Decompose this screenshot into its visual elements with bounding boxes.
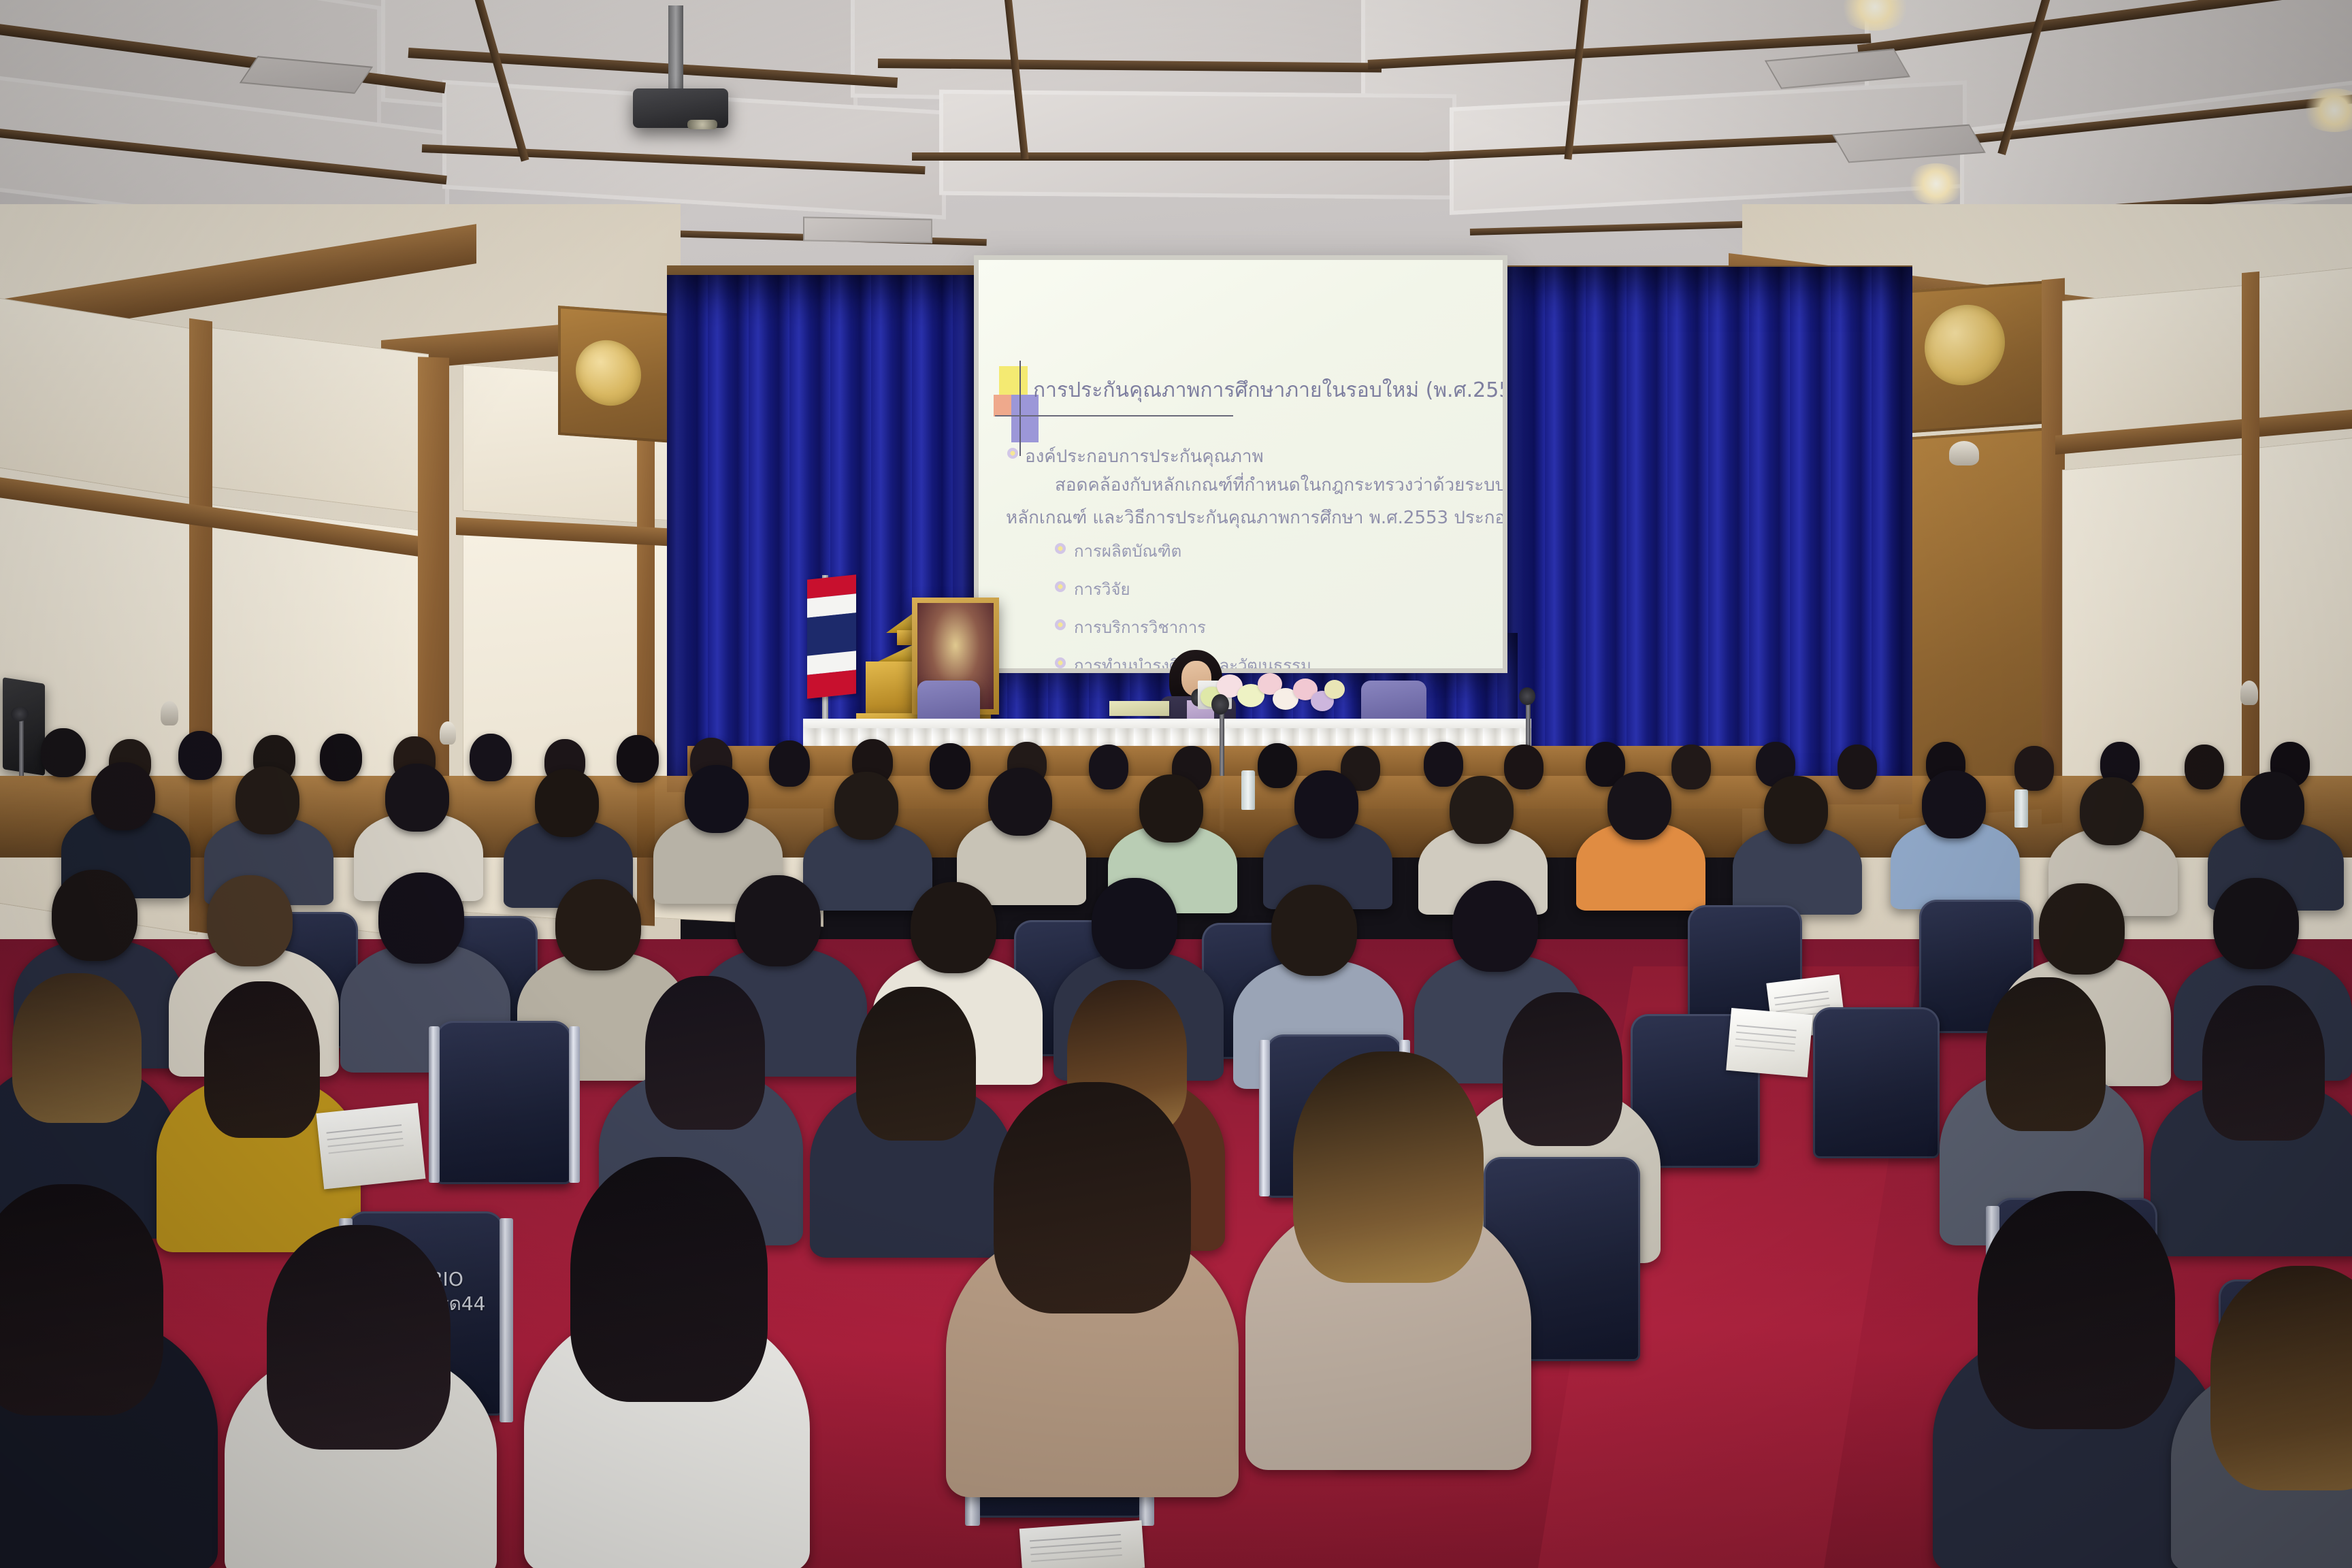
audience-hair — [1978, 1191, 2175, 1429]
slide-deco-yellow — [999, 366, 1028, 397]
chair[interactable] — [1813, 1007, 1940, 1158]
wall-post — [2242, 272, 2259, 817]
slide-divider — [995, 415, 1233, 416]
slide-bullet-icon — [1007, 448, 1018, 459]
slide-body-line-2: หลักเกณฑ์ และวิธีการประกันคุณภาพการศึกษา… — [1006, 504, 1503, 532]
audience-head — [911, 882, 996, 973]
audience-head — [834, 772, 898, 840]
projection-screen: การประกันคุณภาพการศึกษาภายในรอบใหม่ (พ.ศ… — [979, 260, 1503, 668]
audience-head — [2185, 745, 2224, 789]
wall-panel — [204, 327, 429, 514]
audience-hair — [1986, 977, 2106, 1131]
slide-bullet-2: การวิจัย — [1074, 576, 1130, 602]
wall-sconce — [440, 721, 456, 745]
projector-lens — [687, 120, 717, 129]
audience-head — [2240, 772, 2304, 840]
audience-head — [685, 765, 749, 833]
audience-head — [1764, 776, 1828, 844]
slide-bullet-icon — [1055, 581, 1066, 592]
presentation-slide: การประกันคุณภาพการศึกษาภายในรอบใหม่ (พ.ศ… — [979, 260, 1503, 668]
audience-head — [1922, 770, 1986, 838]
audience-head — [470, 734, 512, 781]
audience-hair — [645, 976, 765, 1130]
audience-head — [555, 879, 641, 970]
slide-title: การประกันคุณภาพการศึกษาภายในรอบใหม่ (พ.ศ… — [1033, 374, 1503, 406]
audience-head — [2014, 746, 2054, 791]
slide-heading: องค์ประกอบการประกันคุณภาพ — [1025, 442, 1264, 470]
slide-body-line-1: สอดคล้องกับหลักเกณฑ์ที่กำหนดในกฎกระทรวงว… — [1055, 471, 1503, 499]
wall-panel — [2062, 284, 2253, 444]
audience-head — [1092, 878, 1177, 969]
slide-bullet-3: การบริการวิชาการ — [1074, 614, 1206, 640]
audience-head — [988, 768, 1052, 836]
wall-sconce — [2240, 681, 2258, 705]
chair-frame — [1259, 1040, 1270, 1196]
audience-hair — [2202, 985, 2325, 1141]
wall-post — [2042, 278, 2065, 825]
audience-head — [2039, 883, 2125, 975]
audience-hair — [856, 987, 976, 1141]
audience-head — [1258, 743, 1297, 788]
audience-head — [1837, 745, 1877, 789]
water-bottle — [2014, 789, 2028, 828]
audience-head — [2213, 878, 2299, 969]
chair[interactable] — [436, 1021, 572, 1184]
wall-panel — [0, 297, 197, 500]
audience-head — [1607, 772, 1671, 840]
audience-head — [1450, 776, 1514, 844]
audience-head — [1504, 745, 1543, 789]
audience-hair — [2210, 1266, 2352, 1490]
audience-hair — [204, 981, 320, 1138]
audience-head — [1271, 885, 1357, 976]
stage-curtain-right — [1504, 267, 1912, 804]
slide-bullet-icon — [1055, 619, 1066, 630]
chair-frame — [569, 1026, 580, 1183]
handout-paper — [1726, 1008, 1813, 1077]
speaker-nameplate — [1109, 701, 1169, 716]
audience-head — [930, 743, 970, 789]
audience-head — [235, 766, 299, 834]
slide-bullet-1: การผลิตบัณฑิต — [1074, 538, 1181, 564]
microphone-head — [1519, 687, 1535, 705]
audience-head — [1424, 742, 1463, 787]
audience-head — [378, 872, 464, 964]
projector-mount-pole — [668, 5, 683, 101]
audience-head — [52, 870, 137, 961]
wall-sconce — [1949, 441, 1979, 465]
audience-head — [1139, 774, 1203, 843]
audience-hair — [12, 973, 142, 1123]
audience-hair — [1293, 1051, 1484, 1283]
slide-deco-vline — [1019, 361, 1021, 456]
audience-hair — [0, 1184, 163, 1416]
audience-head — [207, 875, 293, 966]
chair-frame — [429, 1026, 440, 1183]
handout-paper — [316, 1102, 426, 1189]
audience-head — [178, 731, 222, 780]
audience-head — [2080, 777, 2144, 845]
chair-frame — [500, 1218, 513, 1422]
audience-head — [535, 769, 599, 837]
audience-head — [1452, 881, 1538, 972]
wall-panel — [2253, 267, 2352, 425]
microphone-head — [1211, 694, 1229, 715]
water-bottle — [1241, 770, 1255, 810]
ceiling-light — [1906, 163, 1967, 204]
audience-head — [1089, 745, 1128, 789]
ceiling-vent — [803, 216, 932, 243]
audience-head — [385, 764, 449, 832]
audience-hair — [570, 1157, 768, 1402]
audience-head — [1671, 745, 1711, 789]
audience-head — [617, 735, 659, 783]
audience-head — [769, 740, 810, 787]
audience-hair — [1503, 992, 1622, 1146]
auditorium-scene: การประกันคุณภาพการศึกษาภายในรอบใหม่ (พ.ศ… — [0, 0, 2352, 1568]
audience-head — [735, 875, 821, 966]
slide-bullet-icon — [1055, 657, 1066, 668]
audience-head — [41, 728, 86, 777]
wall-sconce — [161, 701, 178, 725]
thai-flag — [807, 574, 856, 699]
audience-head — [91, 762, 155, 830]
audience-head — [320, 734, 362, 781]
microphone-stand — [19, 715, 24, 776]
audience-hair — [267, 1225, 451, 1450]
audience-hair — [994, 1082, 1191, 1313]
slide-bullet-icon — [1055, 543, 1066, 554]
audience-head — [1294, 770, 1358, 838]
handout-paper — [1019, 1520, 1145, 1568]
microphone-head — [11, 706, 29, 721]
wall-speaker-left — [3, 677, 45, 776]
